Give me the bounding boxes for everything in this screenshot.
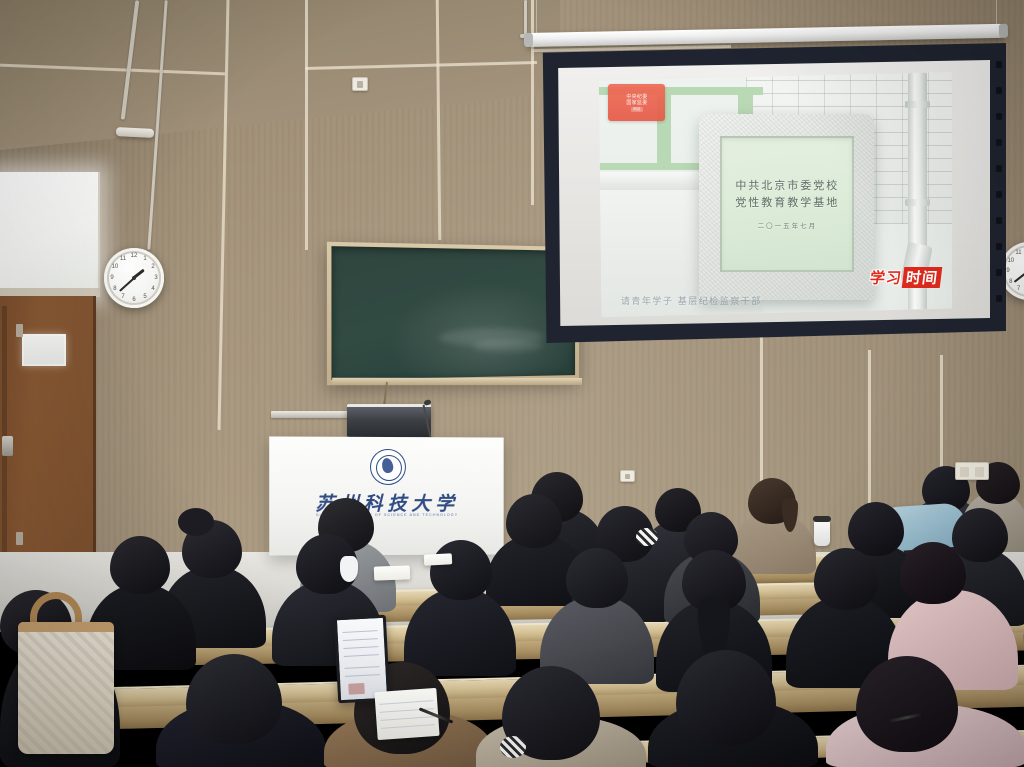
program-badge-part1: 学习 [869, 267, 904, 288]
clock-numeral: 3 [154, 275, 157, 281]
screen-mount-wire [996, 0, 997, 26]
hair-scrunchie [636, 528, 658, 546]
projection-screen[interactable]: 中共北京市委党校 党性教育教学基地 二〇一五年七月 中央纪委 国家监委 网站 请… [540, 43, 1006, 343]
clock-numeral: 7 [1017, 286, 1020, 292]
tote-bag [18, 622, 114, 754]
roller-end-cap [999, 24, 1008, 38]
clock-numeral: 12 [131, 253, 138, 259]
slide-drainpipe-band [905, 199, 930, 206]
screen-mount-wire [536, 0, 537, 34]
door-vision-panel [22, 334, 66, 366]
open-laptop[interactable] [334, 615, 390, 704]
slide-stone-plaque: 中共北京市委党校 党性教育教学基地 二〇一五年七月 [699, 114, 873, 300]
program-badge: 学习 时间 [869, 267, 943, 288]
light-hanger-rod [524, 0, 527, 36]
wall-switch-plate[interactable] [620, 470, 635, 482]
lecture-hall-photo: 121234567891011 121234567891011 [0, 0, 1024, 767]
projected-video-frame: 中共北京市委党校 党性教育教学基地 二〇一五年七月 中央纪委 国家监委 网站 请… [596, 72, 952, 317]
ceiling-light-fixture [116, 127, 154, 138]
slide-plaque-face: 中共北京市委党校 党性教育教学基地 二〇一五年七月 [720, 136, 854, 272]
clock-center-pin [132, 276, 136, 280]
plaque-line-2: 党性教育教学基地 [735, 194, 839, 211]
notebook [374, 565, 410, 580]
door-hinge [16, 324, 23, 337]
tote-bag-trim [18, 622, 114, 632]
clock-numeral: 9 [110, 275, 113, 281]
face-mask [340, 556, 358, 582]
university-name-english: SUZHOU UNIVERSITY OF SCIENCE AND TECHNOL… [269, 513, 503, 517]
clock-numeral: 5 [143, 294, 146, 300]
coffee-cup-lid [813, 516, 831, 522]
screen-edge-grommets [996, 61, 1002, 327]
wall-clock-left: 121234567891011 [104, 248, 164, 308]
clock-numeral: 6 [132, 297, 135, 303]
wall-panel-seam [305, 0, 308, 250]
clock-numeral: 7 [121, 294, 124, 300]
coffee-cup [814, 520, 830, 546]
clock-numeral: 10 [1007, 258, 1014, 264]
notebook [424, 553, 453, 565]
clock-numeral: 8 [113, 286, 116, 292]
clock-numeral: 1 [143, 256, 146, 262]
clock-numeral: 10 [112, 264, 119, 270]
clock-numeral: 4 [151, 286, 154, 292]
door-handle-icon[interactable] [2, 436, 13, 456]
plaque-date: 二〇一五年七月 [758, 221, 818, 231]
slide-subtitle: 请青年学子 基层纪检监察干部 [621, 294, 762, 307]
chalk-tray [332, 378, 582, 386]
clock-numeral: 8 [1009, 279, 1012, 285]
slide-drainpipe-band [905, 101, 930, 108]
wall-outlet[interactable] [955, 462, 989, 480]
chalkboard-surface [331, 246, 575, 380]
clock-minute-hand [1014, 270, 1024, 283]
watermark-sub: 网站 [631, 107, 643, 111]
chalkboard [327, 242, 579, 386]
classroom-door[interactable] [0, 296, 96, 566]
university-emblem-icon [370, 449, 406, 485]
podium-monitor[interactable] [347, 404, 431, 437]
program-badge-part2: 时间 [902, 267, 943, 288]
lectern: 苏州科技大学 SUZHOU UNIVERSITY OF SCIENCE AND … [269, 436, 503, 555]
plaque-line-1: 中共北京市委党校 [735, 177, 839, 194]
door-jamb [2, 306, 7, 561]
clock-numeral: 2 [151, 264, 154, 270]
ccdi-watermark-logo: 中央纪委 国家监委 网站 [608, 84, 665, 121]
clock-numeral: 11 [1015, 250, 1021, 256]
clock-numeral: 9 [1006, 268, 1009, 274]
clock-numeral: 11 [120, 256, 126, 262]
window [0, 172, 100, 294]
hair-scrunchie [500, 736, 526, 758]
hair-bun [178, 508, 214, 536]
watermark-line-2: 国家监委 [626, 100, 647, 106]
roller-end-cap [524, 33, 533, 47]
door-hinge [16, 532, 23, 545]
wall-switch-plate[interactable] [352, 77, 368, 91]
wall-panel-seam [531, 0, 534, 205]
